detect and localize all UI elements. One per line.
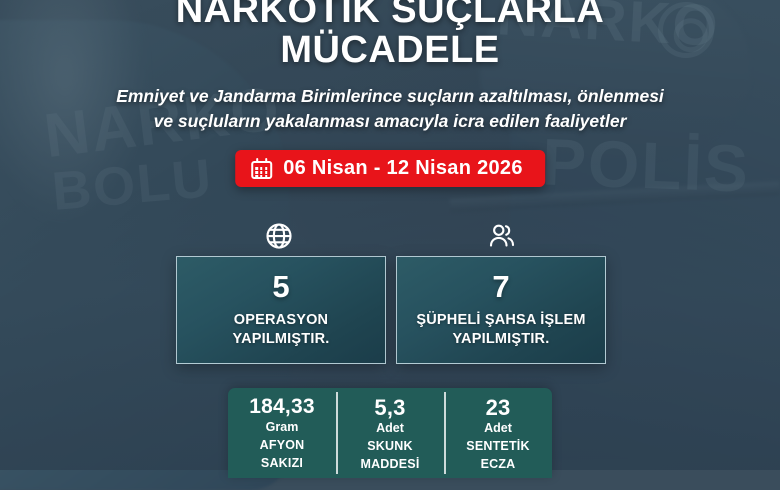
page-title-line2: MÜCADELE	[0, 30, 780, 70]
page-title: NARKOTİK SUÇLARLA MÜCADELE	[0, 0, 780, 71]
seizure-item-afyon-sakizi[interactable]: 184,33 Gram AFYON SAKIZI	[228, 388, 336, 478]
seizure-item-sentetik-ecza[interactable]: 23 Adet SENTETİK ECZA	[444, 388, 552, 478]
seizure-unit-afyon-sakizi: Gram	[266, 418, 299, 437]
globe-icon	[264, 221, 294, 256]
seizure-name-skunk-line2: MADDESİ	[360, 457, 419, 471]
stat-caption-operations: OPERASYON YAPILMIŞTIR.	[233, 311, 330, 348]
seizure-name-afyon-sakizi-line1: AFYON	[260, 438, 305, 452]
seizure-amount-afyon-sakizi: 184,33	[249, 396, 314, 418]
stat-card-suspects[interactable]: 7 ŞÜPHELİ ŞAHSA İŞLEM YAPILMIŞTIR.	[396, 256, 606, 364]
page-title-line1: NARKOTİK SUÇLARLA	[176, 0, 605, 31]
stat-value-operations: 5	[272, 271, 289, 302]
seizure-name-sentetik-ecza-line1: SENTETİK	[466, 439, 529, 453]
page-subtitle: Emniyet ve Jandarma Birimlerince suçları…	[40, 84, 740, 134]
calendar-icon	[251, 158, 272, 179]
seizure-name-afyon-sakizi: AFYON SAKIZI	[260, 437, 305, 473]
stat-caption-operations-line1: OPERASYON	[234, 312, 328, 328]
stat-caption-suspects-line1: ŞÜPHELİ ŞAHSA İŞLEM	[416, 312, 585, 328]
seizure-amount-skunk: 5,3	[374, 396, 405, 419]
page-subtitle-line2: ve suçluların yakalanması amacıyla icra …	[154, 111, 627, 131]
date-range-label: 06 Nisan - 12 Nisan 2026	[283, 157, 523, 180]
stat-caption-suspects: ŞÜPHELİ ŞAHSA İŞLEM YAPILMIŞTIR.	[416, 311, 585, 348]
date-range-badge[interactable]: 06 Nisan - 12 Nisan 2026	[235, 150, 545, 187]
seizure-panel: 184,33 Gram AFYON SAKIZI 5,3 Adet SKUNK …	[228, 388, 552, 478]
page-subtitle-line1: Emniyet ve Jandarma Birimlerince suçları…	[116, 86, 664, 106]
stat-value-suspects: 7	[492, 271, 509, 302]
seizure-item-skunk[interactable]: 5,3 Adet SKUNK MADDESİ	[336, 388, 444, 478]
seizure-name-afyon-sakizi-line2: SAKIZI	[261, 456, 303, 470]
seizure-amount-sentetik-ecza: 23	[486, 396, 511, 419]
stat-caption-operations-line2: YAPILMIŞTIR.	[233, 331, 330, 347]
stat-caption-suspects-line2: YAPILMIŞTIR.	[453, 331, 550, 347]
seizure-unit-skunk: Adet	[376, 419, 404, 438]
seizure-name-sentetik-ecza-line2: ECZA	[481, 457, 516, 471]
seizure-name-skunk: SKUNK MADDESİ	[360, 438, 419, 474]
stat-card-operations[interactable]: 5 OPERASYON YAPILMIŞTIR.	[176, 256, 386, 364]
seizure-unit-sentetik-ecza: Adet	[484, 419, 512, 438]
seizure-name-skunk-line1: SKUNK	[367, 439, 412, 453]
seizure-name-sentetik-ecza: SENTETİK ECZA	[466, 438, 529, 474]
users-icon	[487, 221, 517, 256]
